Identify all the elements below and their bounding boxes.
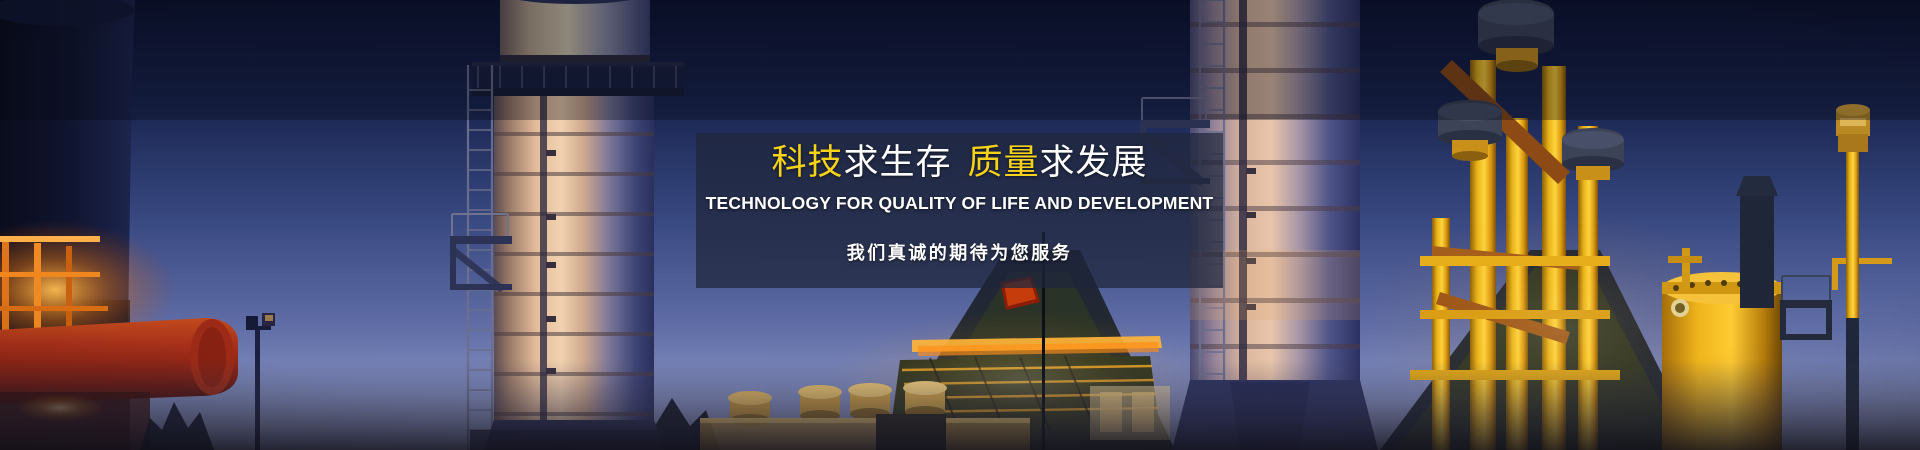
slogan-subtitle-english: TECHNOLOGY FOR QUALITY OF LIFE AND DEVEL… — [696, 186, 1223, 214]
slogan-subtitle-chinese: 我们真诚的期待为您服务 — [696, 214, 1223, 265]
headline-plain-2: 求发展 — [1040, 143, 1148, 182]
slogan-overlay-panel: 科技求生存质量求发展 TECHNOLOGY FOR QUALITY OF LIF… — [696, 133, 1223, 288]
headline-plain-1: 求生存 — [843, 143, 951, 182]
headline-accent-2: 质量 — [968, 143, 1040, 182]
hero-banner: 科技求生存质量求发展 TECHNOLOGY FOR QUALITY OF LIF… — [0, 0, 1920, 450]
slogan-headline: 科技求生存质量求发展 — [696, 140, 1223, 186]
headline-accent-1: 科技 — [771, 143, 843, 182]
